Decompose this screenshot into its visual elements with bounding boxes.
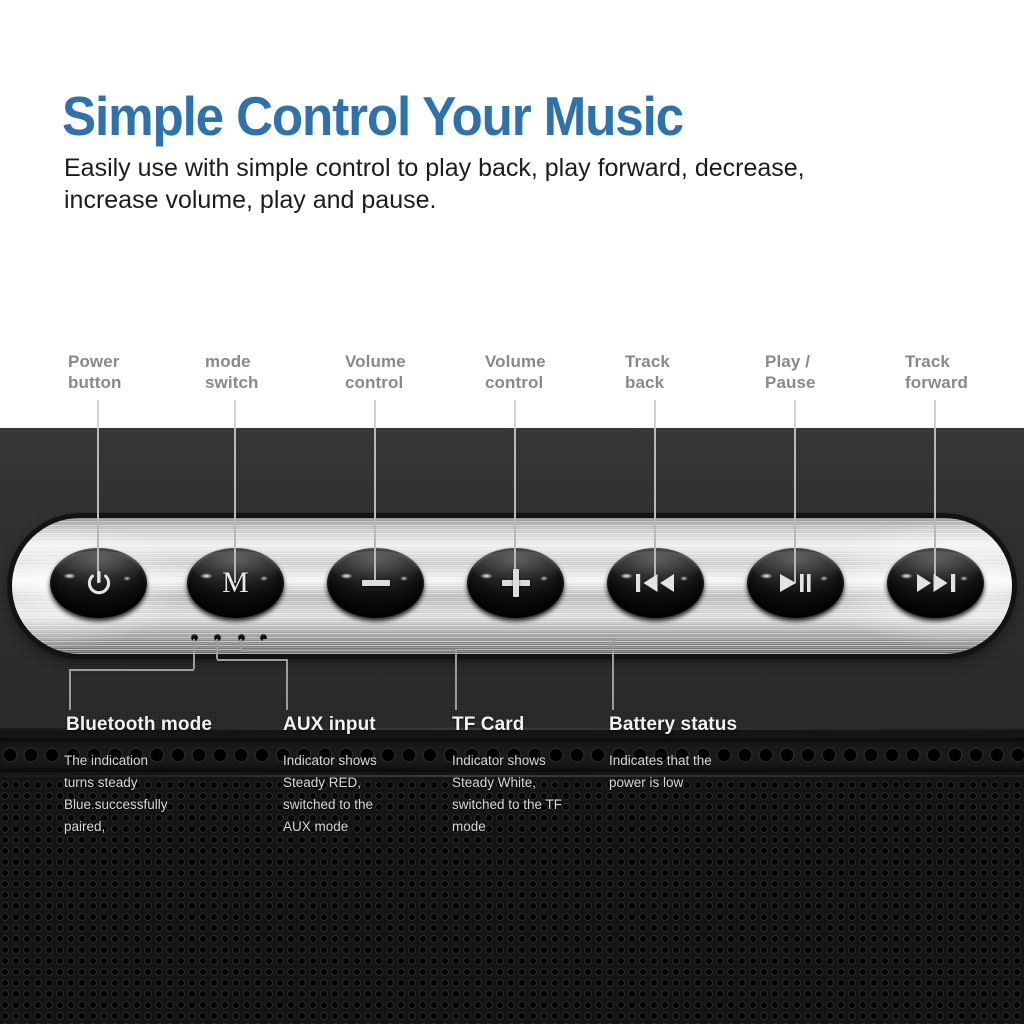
callout-label-2: Volume control bbox=[345, 352, 406, 393]
connector-2-horizontal bbox=[241, 649, 456, 651]
button-specular-left bbox=[620, 573, 633, 579]
button-specular-left bbox=[340, 573, 353, 579]
button-specular-right bbox=[680, 576, 688, 581]
button-specular-left bbox=[760, 573, 773, 579]
indicator-description-0: The indication turns steady Blue.success… bbox=[64, 750, 229, 837]
page-title: Simple Control Your Music bbox=[62, 84, 683, 148]
callout-label-4: Track back bbox=[625, 352, 670, 393]
leader-line-5-upper bbox=[794, 400, 796, 428]
button-specular-right bbox=[820, 576, 828, 581]
track-forward-icon bbox=[915, 572, 957, 594]
indicator-description-3: Indicates that the power is low bbox=[609, 750, 774, 794]
leader-line-0-lower bbox=[97, 428, 99, 583]
button-specular-left bbox=[200, 573, 213, 579]
leader-line-1-lower bbox=[234, 428, 236, 583]
leader-line-6-lower bbox=[934, 428, 936, 583]
button-specular-right bbox=[123, 576, 131, 581]
button-specular-right bbox=[540, 576, 548, 581]
button-specular-right bbox=[960, 576, 968, 581]
connector-3-vertical-bottom bbox=[612, 639, 614, 710]
indicator-title-0: Bluetooth mode bbox=[66, 714, 212, 736]
indicator-title-2: TF Card bbox=[452, 714, 524, 736]
button-specular-right bbox=[260, 576, 268, 581]
callout-label-5: Play / Pause bbox=[765, 352, 816, 393]
leader-line-6-upper bbox=[934, 400, 936, 428]
leader-line-2-upper bbox=[374, 400, 376, 428]
indicator-description-1: Indicator shows Steady RED, switched to … bbox=[283, 750, 448, 837]
connector-2-vertical-top bbox=[240, 639, 242, 649]
connector-3-horizontal bbox=[263, 639, 613, 641]
connector-1-vertical-top bbox=[216, 639, 218, 659]
callout-label-0: Power button bbox=[68, 352, 121, 393]
callout-label-3: Volume control bbox=[485, 352, 546, 393]
plus-icon bbox=[502, 569, 530, 597]
track-back-icon bbox=[635, 572, 677, 594]
connector-0-vertical-top bbox=[193, 639, 195, 669]
connector-0-vertical-bottom bbox=[69, 669, 71, 710]
button-specular-left bbox=[63, 573, 76, 579]
connector-1-vertical-bottom bbox=[286, 659, 288, 710]
button-specular-left bbox=[480, 573, 493, 579]
minus-icon bbox=[362, 580, 390, 586]
connector-1-horizontal bbox=[217, 659, 287, 661]
product-photo: M Bluetooth modeThe indication turns ste… bbox=[0, 428, 1024, 1024]
mode-m-icon: M bbox=[222, 568, 249, 598]
leader-line-4-lower bbox=[654, 428, 656, 583]
indicator-description-2: Indicator shows Steady White, switched t… bbox=[452, 750, 617, 837]
leader-line-3-upper bbox=[514, 400, 516, 428]
leader-line-5-lower bbox=[794, 428, 796, 583]
leader-line-2-lower bbox=[374, 428, 376, 583]
leader-line-0-upper bbox=[97, 400, 99, 428]
indicator-title-1: AUX input bbox=[283, 714, 376, 736]
leader-line-3-lower bbox=[514, 428, 516, 583]
play-pause-icon bbox=[778, 572, 814, 594]
callout-label-6: Track forward bbox=[905, 352, 968, 393]
button-specular-left bbox=[900, 573, 913, 579]
connector-0-horizontal bbox=[70, 669, 194, 671]
infographic-canvas: Simple Control Your Music Easily use wit… bbox=[0, 0, 1024, 1024]
callout-label-1: mode switch bbox=[205, 352, 259, 393]
page-subtitle: Easily use with simple control to play b… bbox=[64, 152, 844, 216]
connector-2-vertical-bottom bbox=[455, 649, 457, 710]
button-specular-right bbox=[400, 576, 408, 581]
leader-line-1-upper bbox=[234, 400, 236, 428]
leader-line-4-upper bbox=[654, 400, 656, 428]
indicator-title-3: Battery status bbox=[609, 714, 737, 736]
power-icon bbox=[85, 569, 113, 597]
